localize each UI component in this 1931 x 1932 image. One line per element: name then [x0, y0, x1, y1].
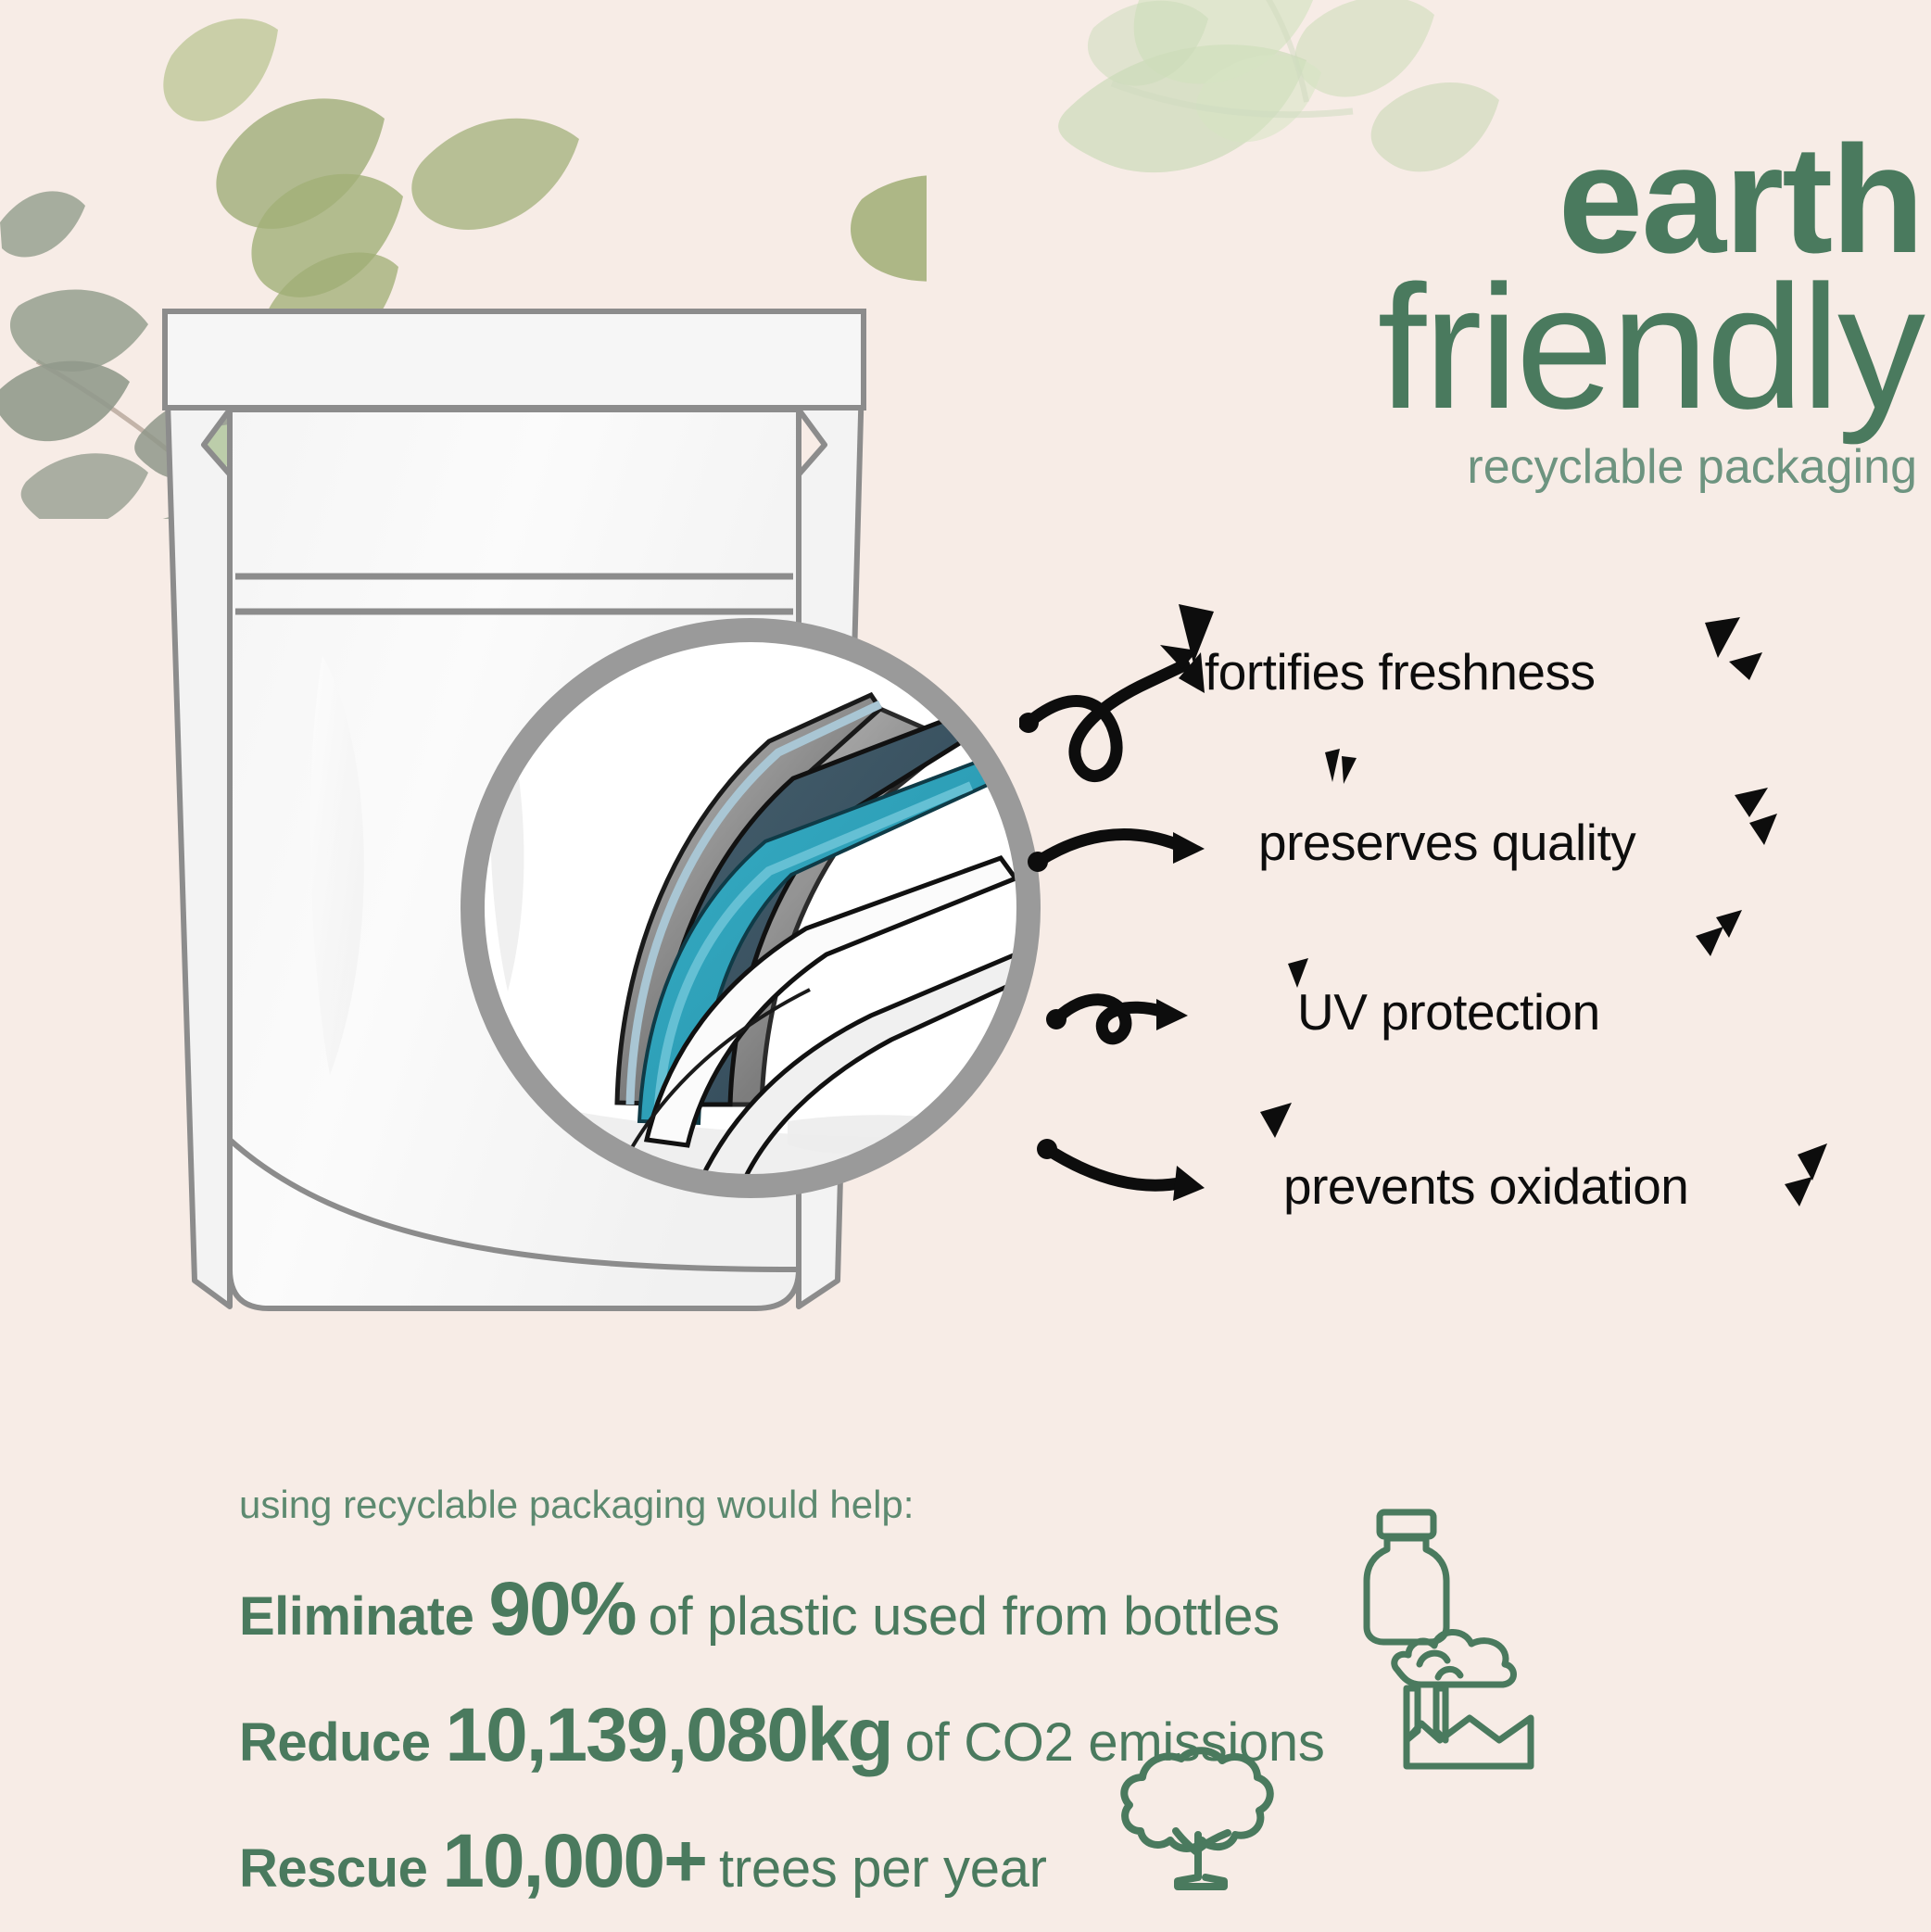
feature-label-uv-protection: UV protection — [1297, 982, 1600, 1042]
stat-tail: trees per year — [719, 1837, 1047, 1900]
stat-number: 90% — [488, 1566, 635, 1653]
feature-label-prevents-oxidation: prevents oxidation — [1283, 1156, 1688, 1216]
factory-icon — [1390, 1622, 1547, 1779]
stat-verb: Reduce — [239, 1711, 431, 1774]
stat-verb: Rescue — [239, 1837, 427, 1900]
magnifier-cross-section — [473, 630, 1029, 1195]
stat-tail: of plastic used from bottles — [648, 1585, 1279, 1648]
stat-row-rescue: Rescue 10,000+ trees per year — [239, 1818, 1629, 1905]
tree-icon — [1117, 1742, 1293, 1900]
feature-label-fortifies-freshness: fortifies freshness — [1205, 642, 1596, 701]
poster-canvas: earth friendly recyclable packaging — [0, 0, 1931, 1932]
stat-number: 10,000+ — [442, 1818, 706, 1905]
stat-verb: Eliminate — [239, 1585, 473, 1648]
feature-label-preserves-quality: preserves quality — [1258, 813, 1635, 872]
stat-number: 10,139,080kg — [446, 1692, 892, 1779]
